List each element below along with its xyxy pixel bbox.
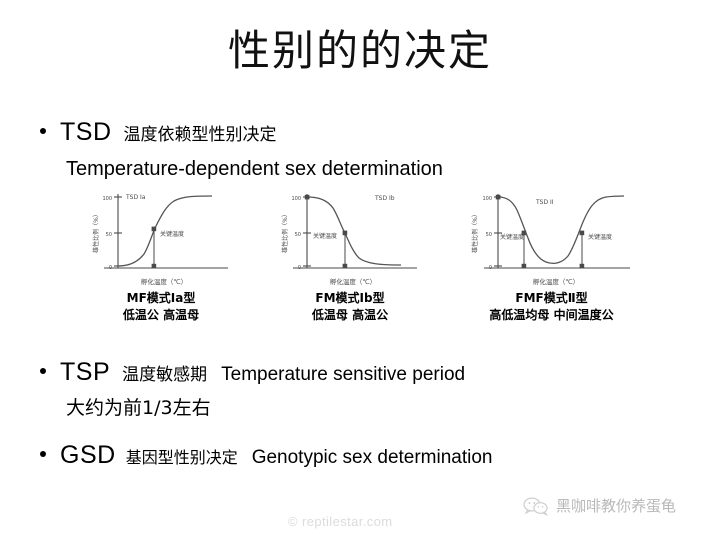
chart-caption-line2: 低温公 高温母 bbox=[86, 307, 236, 324]
page-title: 性别的的决定 bbox=[0, 28, 720, 74]
chart-caption-line2: 高低温均母 中间温度公 bbox=[464, 307, 639, 324]
svg-text:100: 100 bbox=[102, 196, 112, 202]
svg-text:关键温度: 关键温度 bbox=[313, 232, 337, 240]
bullet-cn-tsp: 温度敏感期 bbox=[122, 360, 207, 385]
bullet-item-tsd: TSD 温度依赖型性别决定 bbox=[40, 118, 277, 147]
svg-text:孵化温度（℃）: 孵化温度（℃） bbox=[330, 277, 376, 286]
svg-text:雄性比例（%）: 雄性比例（%） bbox=[471, 211, 479, 253]
svg-text:关键温度: 关键温度 bbox=[160, 230, 184, 238]
svg-text:0: 0 bbox=[298, 265, 301, 271]
bullet-dot-icon bbox=[40, 451, 46, 457]
bullet-abbr-gsd: GSD bbox=[60, 441, 116, 470]
bullet-en-gsd: Genotypic sex determination bbox=[252, 447, 493, 469]
svg-text:雄性比例（%）: 雄性比例（%） bbox=[92, 211, 100, 253]
chart-tsd-ia-svg: 100 50 0 雄性比例（%） TSD Ia 关键温度 孵化温度（℃） bbox=[86, 186, 236, 288]
chart-tsd-ib: 100 50 0 雄性比例（%） TSD Ib 关键温度 孵化温度（℃） FM模… bbox=[275, 186, 425, 325]
chart-tsd-ib-svg: 100 50 0 雄性比例（%） TSD Ib 关键温度 孵化温度（℃） bbox=[275, 186, 425, 288]
svg-text:孵化温度（℃）: 孵化温度（℃） bbox=[533, 277, 579, 286]
bullet-item-tsp: TSP 温度敏感期 Temperature sensitive period bbox=[40, 358, 465, 387]
bullet-sub-en-tsd: Temperature-dependent sex determination bbox=[66, 158, 443, 181]
watermark-right-text: 黑咖啡教你养蛋龟 bbox=[556, 495, 676, 516]
svg-text:孵化温度（℃）: 孵化温度（℃） bbox=[141, 277, 187, 286]
chart-tsd-ii-svg: 100 50 0 雄性比例（%） TSD II 关键温度 关键温度 孵化温度（℃… bbox=[464, 186, 639, 288]
chart-caption-tsd-ib: FM模式Ⅰb型 低温母 高温公 bbox=[275, 290, 425, 325]
chart-caption-line2: 低温母 高温公 bbox=[275, 307, 425, 324]
bullet-abbr-tsd: TSD bbox=[60, 118, 112, 147]
bullet-en-tsp: Temperature sensitive period bbox=[221, 364, 465, 386]
chart-caption-tsd-ia: MF模式Ⅰa型 低温公 高温母 bbox=[86, 290, 236, 325]
bullet-sub-cn-tsp: 大约为前1/3左右 bbox=[66, 393, 211, 420]
svg-text:50: 50 bbox=[106, 232, 112, 238]
chart-caption-line1: FM模式Ⅰb型 bbox=[275, 290, 425, 307]
wechat-icon bbox=[523, 496, 549, 516]
watermark-right: 黑咖啡教你养蛋龟 bbox=[523, 495, 676, 516]
chart-tsd-ii: 100 50 0 雄性比例（%） TSD II 关键温度 关键温度 孵化温度（℃… bbox=[464, 186, 639, 325]
bullet-cn-gsd: 基因型性别决定 bbox=[126, 444, 238, 468]
svg-text:50: 50 bbox=[295, 232, 301, 238]
svg-text:0: 0 bbox=[109, 265, 112, 271]
svg-text:100: 100 bbox=[482, 196, 492, 202]
svg-text:雄性比例（%）: 雄性比例（%） bbox=[281, 211, 289, 253]
bullet-item-gsd: GSD 基因型性别决定 Genotypic sex determination bbox=[40, 441, 493, 470]
svg-text:关键温度: 关键温度 bbox=[588, 233, 612, 241]
svg-text:TSD Ia: TSD Ia bbox=[125, 194, 146, 201]
svg-text:TSD Ib: TSD Ib bbox=[374, 195, 395, 202]
chart-caption-line1: FMF模式Ⅱ型 bbox=[464, 290, 639, 307]
bullet-dot-icon bbox=[40, 368, 46, 374]
svg-text:TSD II: TSD II bbox=[535, 199, 554, 206]
bullet-abbr-tsp: TSP bbox=[60, 358, 110, 387]
svg-text:0: 0 bbox=[489, 265, 492, 271]
chart-caption-tsd-ii: FMF模式Ⅱ型 高低温均母 中间温度公 bbox=[464, 290, 639, 325]
bullet-cn-tsd: 温度依赖型性别决定 bbox=[124, 120, 277, 145]
slide-canvas: 性别的的决定 TSD 温度依赖型性别决定 Temperature-depende… bbox=[0, 0, 720, 540]
svg-text:100: 100 bbox=[291, 196, 301, 202]
svg-text:50: 50 bbox=[486, 232, 492, 238]
watermark-center: © reptilestar.com bbox=[288, 514, 393, 529]
svg-text:关键温度: 关键温度 bbox=[500, 233, 524, 241]
bullet-dot-icon bbox=[40, 128, 46, 134]
charts-row: 100 50 0 雄性比例（%） TSD Ia 关键温度 孵化温度（℃） MF模 bbox=[60, 186, 670, 336]
chart-tsd-ia: 100 50 0 雄性比例（%） TSD Ia 关键温度 孵化温度（℃） MF模 bbox=[86, 186, 236, 325]
chart-caption-line1: MF模式Ⅰa型 bbox=[86, 290, 236, 307]
